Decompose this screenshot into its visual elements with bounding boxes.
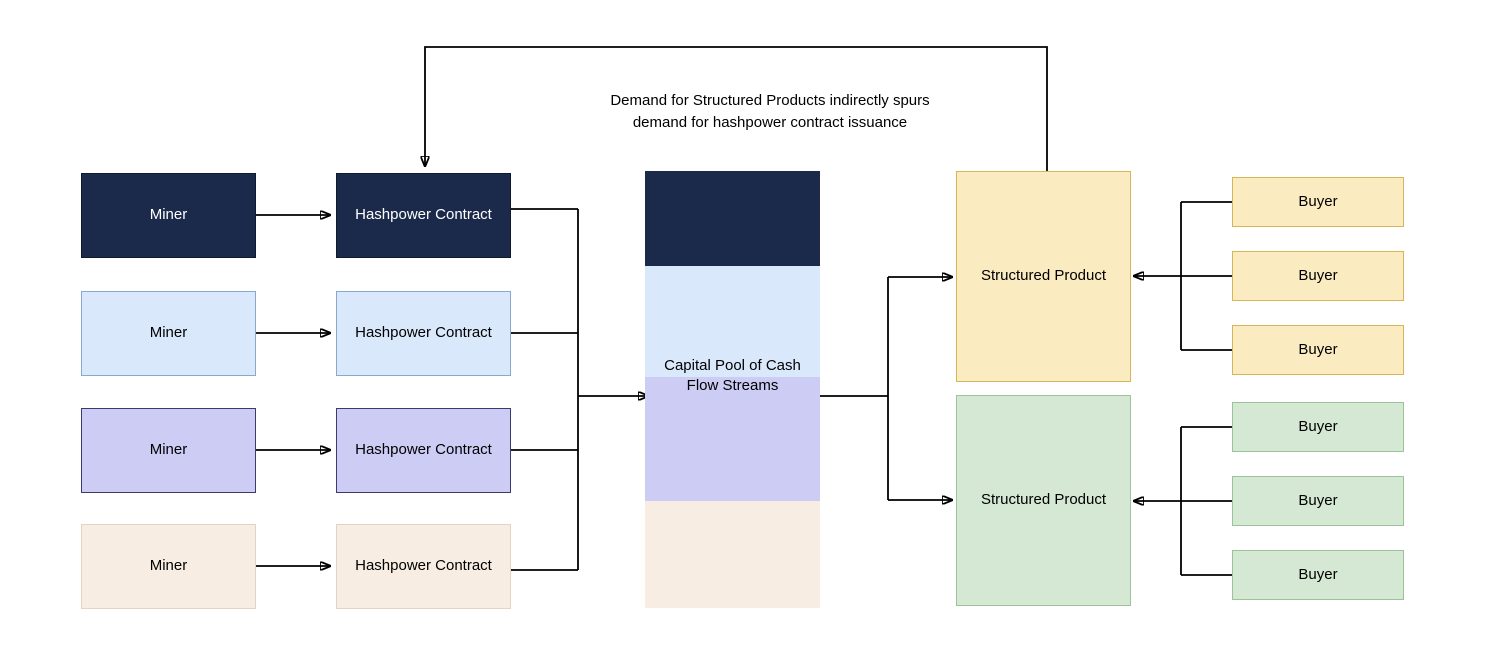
buyer-node-green-2-label: Buyer xyxy=(1298,492,1337,511)
buyer-node-green-1-label: Buyer xyxy=(1298,418,1337,437)
hashpower-contract-node-2-label: Hashpower Contract xyxy=(355,324,492,343)
feedback-loop-note: Demand for Structured Products indirectl… xyxy=(520,90,1020,134)
diagram-canvas: Demand for Structured Products indirectl… xyxy=(0,0,1500,651)
miner-node-1[interactable]: Miner xyxy=(81,173,256,258)
hashpower-contract-node-4[interactable]: Hashpower Contract xyxy=(336,524,511,609)
miner-node-4[interactable]: Miner xyxy=(81,524,256,609)
capital-pool-label: Capital Pool of Cash Flow Streams xyxy=(645,356,820,395)
structured-product-node-green[interactable]: Structured Product xyxy=(956,395,1131,606)
miner-node-3[interactable]: Miner xyxy=(81,408,256,493)
miner-node-2-label: Miner xyxy=(150,324,188,343)
buyer-node-yellow-2-label: Buyer xyxy=(1298,267,1337,286)
buyer-node-yellow-1-label: Buyer xyxy=(1298,193,1337,212)
hashpower-contract-node-2[interactable]: Hashpower Contract xyxy=(336,291,511,376)
buyer-node-green-3-label: Buyer xyxy=(1298,566,1337,585)
capital-pool-segment-cream xyxy=(645,501,820,608)
capital-pool-segment-purple xyxy=(645,377,820,501)
buyer-node-yellow-2[interactable]: Buyer xyxy=(1232,251,1404,301)
capital-pool-segment-navy xyxy=(645,171,820,266)
structured-product-node-green-label: Structured Product xyxy=(981,491,1106,510)
hashpower-contract-node-3[interactable]: Hashpower Contract xyxy=(336,408,511,493)
miner-node-4-label: Miner xyxy=(150,557,188,576)
buyer-node-green-3[interactable]: Buyer xyxy=(1232,550,1404,600)
miner-node-2[interactable]: Miner xyxy=(81,291,256,376)
miner-node-1-label: Miner xyxy=(150,206,188,225)
hashpower-contract-node-1[interactable]: Hashpower Contract xyxy=(336,173,511,258)
buyer-node-yellow-3-label: Buyer xyxy=(1298,341,1337,360)
miner-node-3-label: Miner xyxy=(150,441,188,460)
structured-product-node-yellow-label: Structured Product xyxy=(981,267,1106,286)
buyer-node-green-1[interactable]: Buyer xyxy=(1232,402,1404,452)
buyer-node-yellow-3[interactable]: Buyer xyxy=(1232,325,1404,375)
hashpower-contract-node-4-label: Hashpower Contract xyxy=(355,557,492,576)
buyer-node-green-2[interactable]: Buyer xyxy=(1232,476,1404,526)
hashpower-contract-node-1-label: Hashpower Contract xyxy=(355,206,492,225)
structured-product-node-yellow[interactable]: Structured Product xyxy=(956,171,1131,382)
hashpower-contract-node-3-label: Hashpower Contract xyxy=(355,441,492,460)
buyer-node-yellow-1[interactable]: Buyer xyxy=(1232,177,1404,227)
